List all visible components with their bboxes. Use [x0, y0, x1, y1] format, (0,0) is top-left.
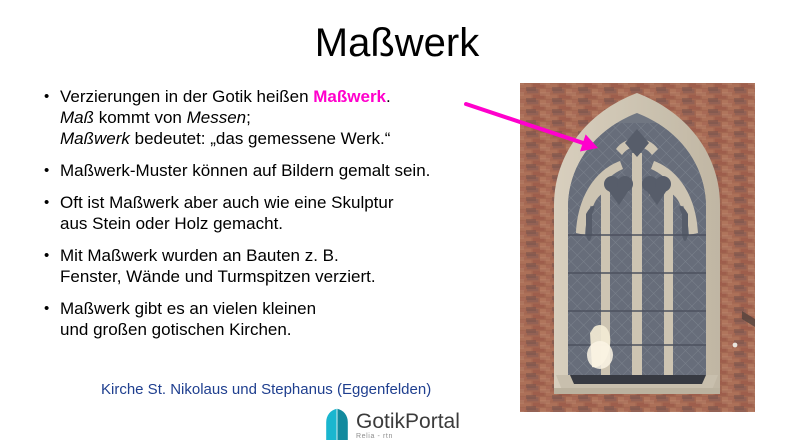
- bullet-list: Verzierungen in der Gotik heißen Maßwerk…: [40, 86, 510, 351]
- text-run: und großen gotischen Kirchen.: [60, 320, 292, 339]
- bullet-line: aus Stein oder Holz gemacht.: [60, 213, 510, 234]
- bullet-line: Maß kommt von Messen;: [60, 107, 510, 128]
- bullet-line: Maßwerk bedeutet: „das gemessene Werk.“: [60, 128, 510, 149]
- text-run: Oft ist Maßwerk aber auch wie eine Skulp…: [60, 193, 394, 212]
- photo-illustration: [520, 83, 755, 412]
- list-item-skulptur: Oft ist Maßwerk aber auch wie eine Skulp…: [40, 192, 510, 234]
- logo-wordmark: GotikPortal: [356, 411, 460, 432]
- text-run: Mit Maßwerk wurden an Bauten z. B.: [60, 246, 339, 265]
- bullet-line: Fenster, Wände und Turmspitzen verziert.: [60, 266, 510, 287]
- list-item-gemalt: Maßwerk-Muster können auf Bildern gemalt…: [40, 160, 510, 181]
- list-item-bauten: Mit Maßwerk wurden an Bauten z. B.Fenste…: [40, 245, 510, 287]
- list-item-kirchen: Maßwerk gibt es an vielen kleinenund gro…: [40, 298, 510, 340]
- slide: Maßwerk Verzierungen in der Gotik heißen…: [0, 0, 794, 446]
- list-item-definition: Verzierungen in der Gotik heißen Maßwerk…: [40, 86, 510, 149]
- bullet-line: Mit Maßwerk wurden an Bauten z. B.: [60, 245, 510, 266]
- highlight-term: Maßwerk: [313, 87, 386, 106]
- text-run: .: [386, 87, 391, 106]
- bullet-line: und großen gotischen Kirchen.: [60, 319, 510, 340]
- gothic-window-photo: [520, 83, 755, 412]
- text-run: Fenster, Wände und Turmspitzen verziert.: [60, 267, 376, 286]
- emphasis-text: Maß: [60, 108, 94, 127]
- logo-text-block: GotikPortal Relia - rtn: [356, 411, 460, 440]
- text-run: Verzierungen in der Gotik heißen: [60, 87, 313, 106]
- text-run: bedeutet: „das gemessene Werk.“: [130, 129, 391, 148]
- text-run: Maßwerk-Muster können auf Bildern gemalt…: [60, 161, 430, 180]
- bullet-line: Oft ist Maßwerk aber auch wie eine Skulp…: [60, 192, 510, 213]
- logo-tagline: Relia - rtn: [356, 433, 460, 440]
- text-run: Maßwerk gibt es an vielen kleinen: [60, 299, 316, 318]
- page-title: Maßwerk: [0, 20, 794, 66]
- bullet-line: Verzierungen in der Gotik heißen Maßwerk…: [60, 86, 510, 107]
- emphasis-text: Messen: [187, 108, 247, 127]
- bullet-line: Maßwerk-Muster können auf Bildern gemalt…: [60, 160, 510, 181]
- text-run: kommt von: [94, 108, 187, 127]
- photo-caption: Kirche St. Nikolaus und Stephanus (Eggen…: [101, 381, 431, 398]
- text-run: ;: [246, 108, 251, 127]
- bullet-line: Maßwerk gibt es an vielen kleinen: [60, 298, 510, 319]
- emphasis-text: Maßwerk: [60, 129, 130, 148]
- text-run: aus Stein oder Holz gemacht.: [60, 214, 283, 233]
- brand-logo[interactable]: GotikPortal Relia - rtn: [324, 406, 460, 442]
- gothic-portal-arch-icon: [324, 408, 350, 441]
